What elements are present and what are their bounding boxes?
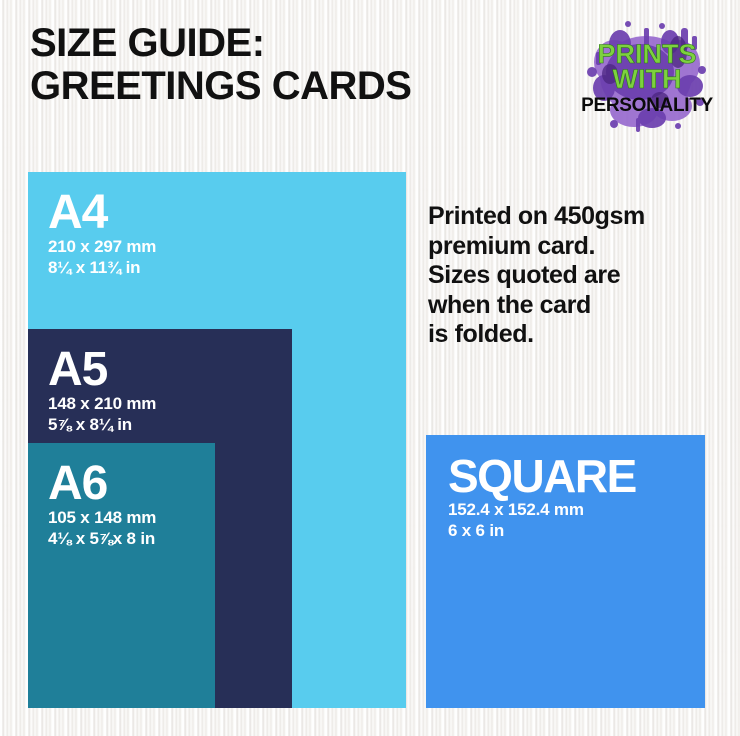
size-block-a5-name: A5: [48, 347, 156, 393]
brand-logo: PRINTS WITH PERSONALITY: [574, 14, 720, 136]
size-block-a4-name: A4: [48, 190, 156, 236]
print-note-line-3: Sizes quoted are: [428, 261, 718, 291]
size-block-square-in: 6 x 6 in: [448, 520, 636, 542]
size-block-a4-mm: 210 x 297 mm: [48, 236, 156, 258]
page-title: SIZE GUIDE: GREETINGS CARDS: [30, 22, 500, 108]
size-block-square-content: SQUARE 152.4 x 152.4 mm 6 x 6 in: [448, 455, 636, 542]
size-block-a4-content: A4 210 x 297 mm 8¼ x 11¾ in: [48, 190, 156, 279]
size-block-a6: A6 105 x 148 mm 4⅛ x 5⅞x 8 in: [28, 443, 215, 708]
size-block-a5-content: A5 148 x 210 mm 5⅞ x 8¼ in: [48, 347, 156, 436]
brand-logo-line-3: PERSONALITY: [574, 96, 720, 115]
size-block-square: SQUARE 152.4 x 152.4 mm 6 x 6 in: [426, 435, 705, 708]
size-block-a6-content: A6 105 x 148 mm 4⅛ x 5⅞x 8 in: [48, 461, 156, 550]
size-guide-poster: SIZE GUIDE: GREETINGS CARDS: [0, 0, 740, 736]
brand-logo-line-2: WITH: [574, 67, 720, 92]
size-block-square-name: SQUARE: [448, 455, 636, 499]
size-block-a5-in: 5⅞ x 8¼ in: [48, 414, 156, 436]
page-title-line-1: SIZE GUIDE:: [30, 22, 500, 65]
print-note-line-4: when the card: [428, 291, 718, 321]
print-note-line-5: is folded.: [428, 320, 718, 350]
print-note-line-1: Printed on 450gsm: [428, 202, 718, 232]
print-note: Printed on 450gsm premium card. Sizes qu…: [428, 202, 718, 350]
size-block-a4-in: 8¼ x 11¾ in: [48, 257, 156, 279]
size-block-a6-mm: 105 x 148 mm: [48, 507, 156, 529]
print-note-line-2: premium card.: [428, 232, 718, 262]
page-title-line-2: GREETINGS CARDS: [30, 65, 500, 108]
size-block-a5-mm: 148 x 210 mm: [48, 393, 156, 415]
brand-logo-text: PRINTS WITH PERSONALITY: [574, 14, 720, 136]
size-block-a6-in: 4⅛ x 5⅞x 8 in: [48, 528, 156, 550]
size-block-a6-name: A6: [48, 461, 156, 507]
